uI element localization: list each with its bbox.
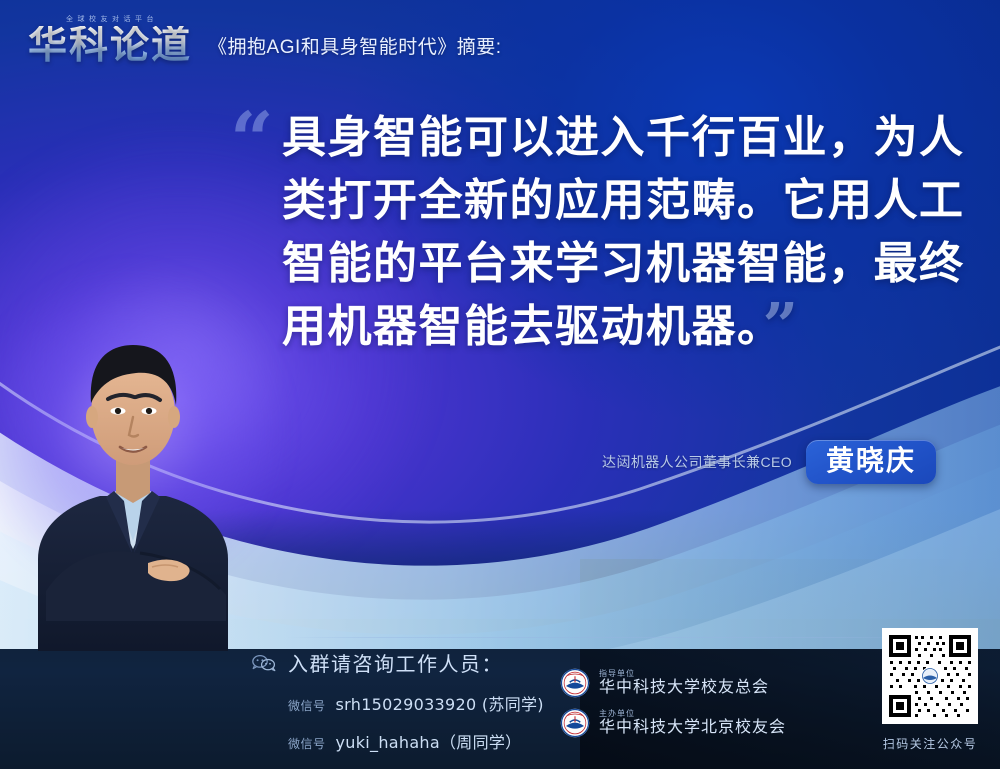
wechat-icon — [252, 654, 276, 672]
speaker-role: 达闼机器人公司董事长兼CEO — [602, 452, 792, 472]
quote-block: “ 具身智能可以进入千行百业，为人 类打开全新的应用范畴。它用人工 智能的平台来… — [282, 106, 954, 358]
contact-value: srh15029033920 (苏同学) — [336, 691, 544, 715]
footer-divider — [286, 637, 928, 638]
organization-name: 华中科技大学北京校友会 — [599, 719, 786, 737]
footer-heading: 入群请咨询工作人员： — [288, 648, 503, 677]
organization-list: 指导单位 华中科技大学校友总会 主办单位 华中科技大学北京校友会 — [560, 668, 786, 748]
quote-line: 智能的平台来学习机器智能，最终 — [282, 232, 954, 295]
attribution: 达闼机器人公司董事长兼CEO 黄晓庆 — [602, 440, 936, 484]
contact-row[interactable]: 微信号 yuki_hahaha（周同学） — [252, 729, 544, 753]
organization-name: 华中科技大学校友总会 — [599, 679, 769, 697]
quote-line-last: 用机器智能去驱动机器。” — [282, 295, 954, 358]
footer-contacts: 入群请咨询工作人员： 微信号 srh15029033920 (苏同学) 微信号 … — [252, 648, 544, 753]
organization-row: 指导单位 华中科技大学校友总会 — [560, 668, 786, 698]
quote-line: 类打开全新的应用范畴。它用人工 — [282, 169, 954, 232]
organization-kind: 主办单位 — [599, 709, 786, 719]
quote-open-mark: “ — [230, 102, 274, 178]
qr-code-icon[interactable] — [882, 628, 978, 724]
header: 全球校友对话平台 华科论道 《拥抱AGI和具身智能时代》摘要: — [28, 14, 502, 65]
contact-label: 微信号 — [288, 697, 326, 714]
organization-row: 主办单位 华中科技大学北京校友会 — [560, 708, 786, 738]
quote-close-mark: ” — [763, 289, 800, 362]
speaker-name-badge: 黄晓庆 — [806, 440, 936, 484]
speaker-portrait — [28, 291, 238, 651]
logo-tagline: 全球校友对话平台 — [62, 14, 158, 24]
logo-text: 华科论道 — [28, 26, 192, 65]
contact-value: yuki_hahaha（周同学） — [336, 729, 522, 753]
contact-label: 微信号 — [288, 735, 326, 752]
qr-caption: 扫码关注公众号 — [882, 735, 978, 752]
poster-canvas: 全球校友对话平台 华科论道 《拥抱AGI和具身智能时代》摘要: — [0, 0, 1000, 769]
quote-line-text: 用机器智能去驱动机器。 — [282, 301, 761, 352]
portrait-illustration — [28, 291, 238, 651]
hust-seal-icon — [560, 708, 590, 738]
organization-kind: 指导单位 — [599, 669, 769, 679]
hust-seal-icon — [560, 668, 590, 698]
page-title: 《拥抱AGI和具身智能时代》摘要: — [208, 32, 502, 65]
quote-line: 具身智能可以进入千行百业，为人 — [282, 106, 954, 169]
contact-row[interactable]: 微信号 srh15029033920 (苏同学) — [252, 691, 544, 715]
qr-block: 扫码关注公众号 — [882, 628, 978, 752]
brand-logo[interactable]: 全球校友对话平台 华科论道 — [28, 14, 192, 65]
